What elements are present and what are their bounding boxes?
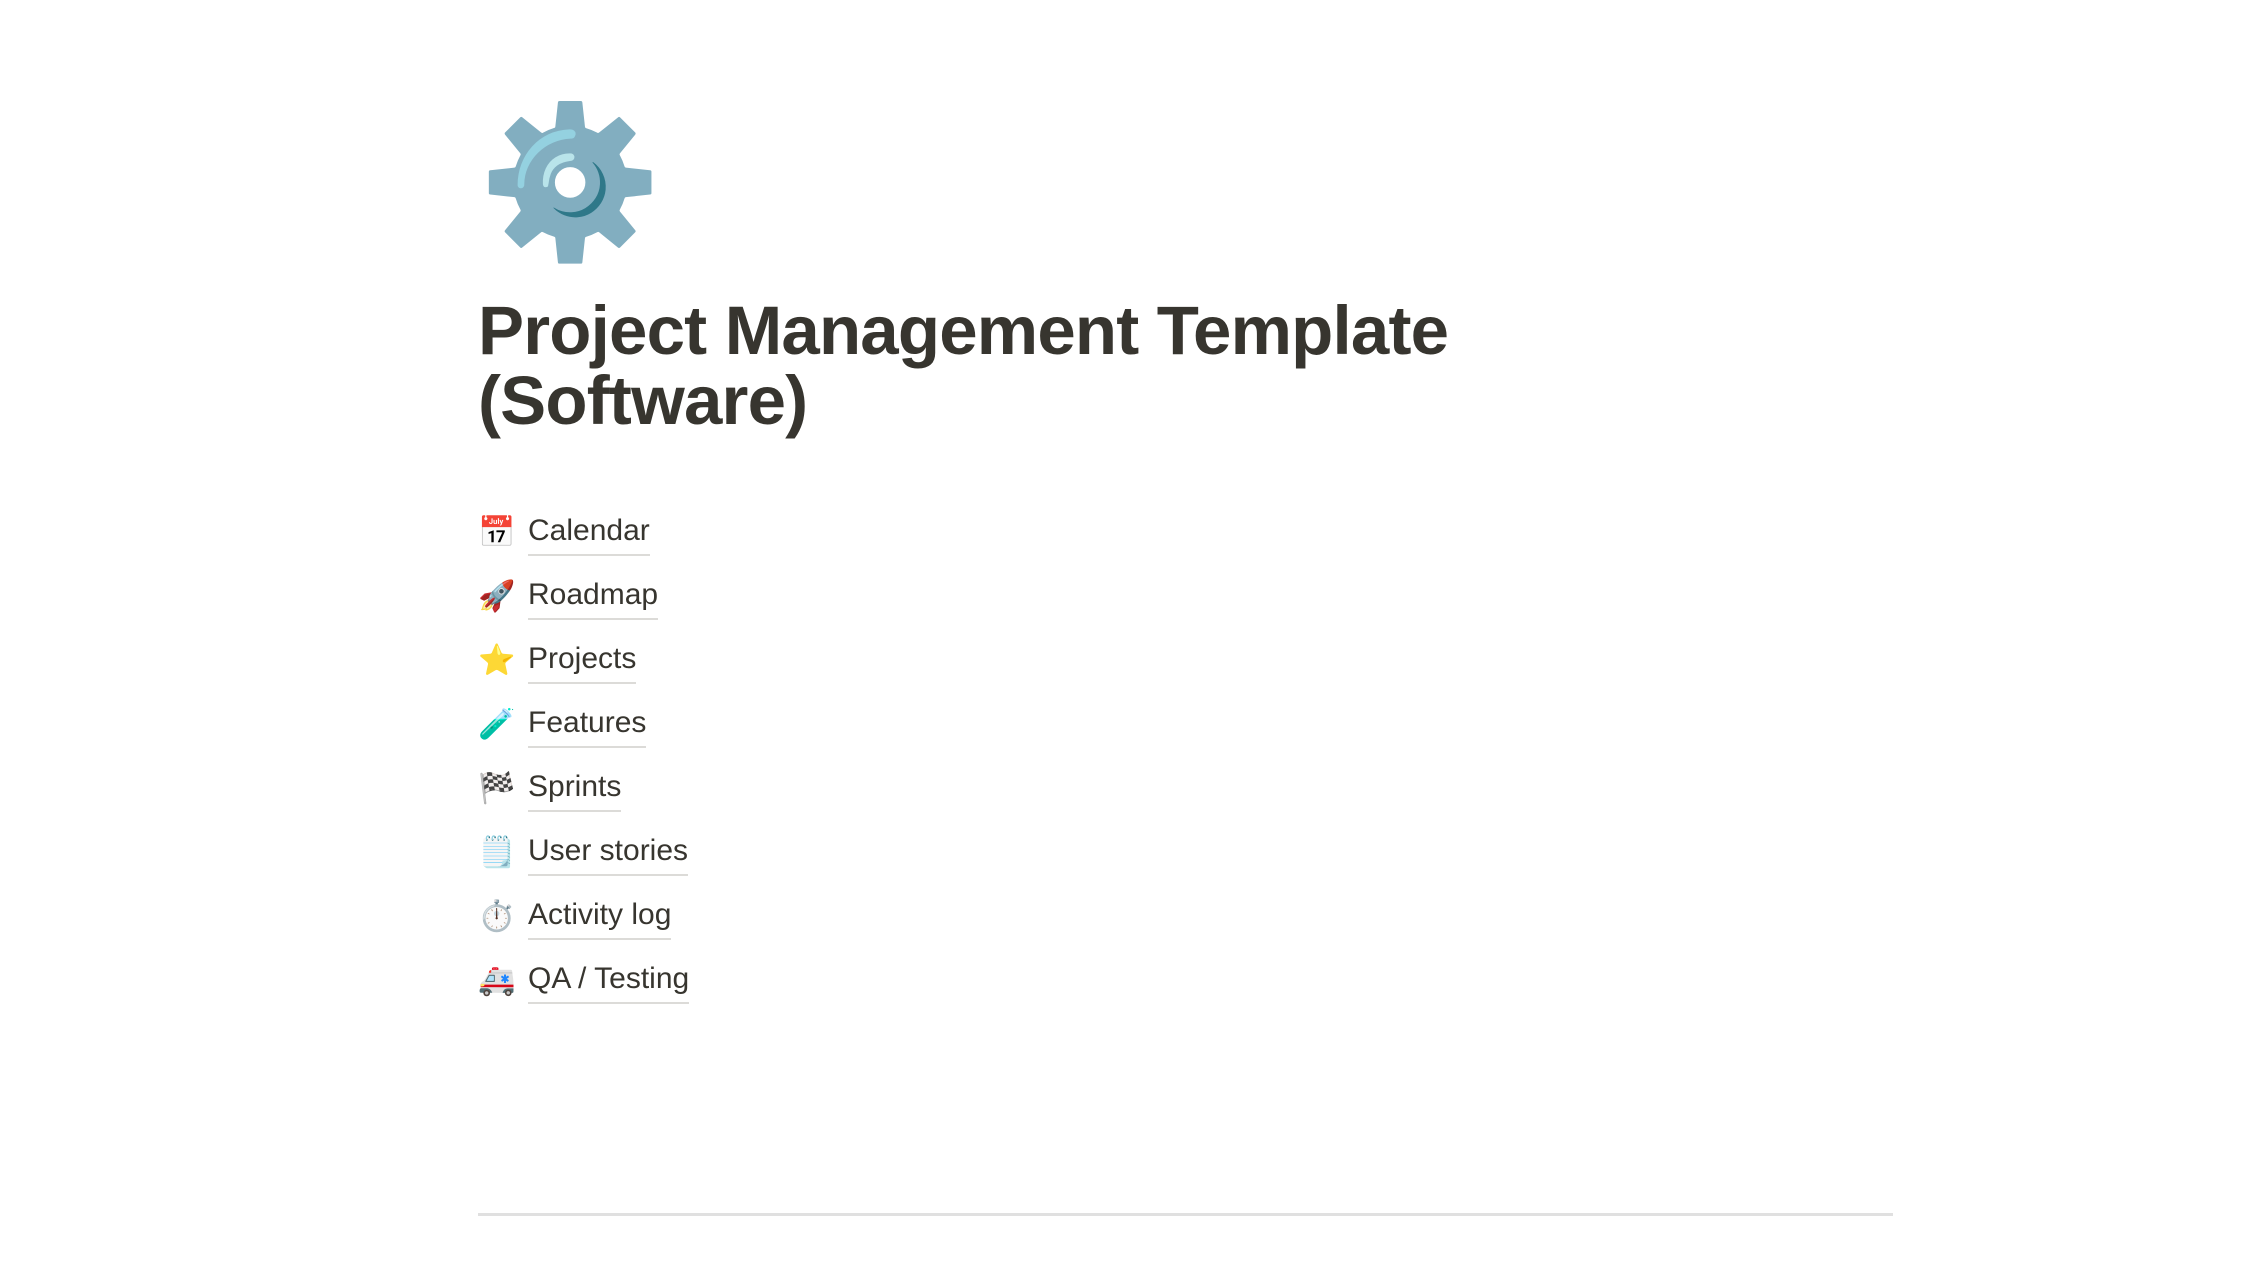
list-item-features[interactable]: 🧪 Features bbox=[478, 703, 1893, 747]
page-link-label[interactable]: Sprints bbox=[528, 765, 621, 812]
list-item-roadmap[interactable]: 🚀 Roadmap bbox=[478, 575, 1893, 619]
ambulance-icon: 🚑 bbox=[478, 959, 528, 1003]
spiral-notepad-icon: 🗒️ bbox=[478, 831, 528, 875]
list-item-activity-log[interactable]: ⏱️ Activity log bbox=[478, 895, 1893, 939]
content-column: ⚙️ Project Management Template (Software… bbox=[478, 0, 1893, 1003]
gear-icon[interactable]: ⚙️ bbox=[478, 98, 646, 266]
test-tube-icon: 🧪 bbox=[478, 703, 528, 747]
page-link-label[interactable]: Activity log bbox=[528, 893, 671, 940]
page-title[interactable]: Project Management Template (Software) bbox=[478, 296, 1618, 437]
page-link-label[interactable]: Projects bbox=[528, 637, 636, 684]
star-icon: ⭐ bbox=[478, 639, 528, 683]
list-item-user-stories[interactable]: 🗒️ User stories bbox=[478, 831, 1893, 875]
page-link-list: 📅 Calendar 🚀 Roadmap ⭐ Projects 🧪 Featur… bbox=[478, 511, 1893, 1003]
stopwatch-icon: ⏱️ bbox=[478, 895, 528, 939]
list-item-projects[interactable]: ⭐ Projects bbox=[478, 639, 1893, 683]
page-link-label[interactable]: Calendar bbox=[528, 509, 650, 556]
list-item-calendar[interactable]: 📅 Calendar bbox=[478, 511, 1893, 555]
calendar-icon: 📅 bbox=[478, 511, 528, 555]
page-link-label[interactable]: Features bbox=[528, 701, 646, 748]
page-link-label[interactable]: User stories bbox=[528, 829, 688, 876]
rocket-icon: 🚀 bbox=[478, 575, 528, 619]
horizontal-divider bbox=[478, 1213, 1893, 1216]
page-link-label[interactable]: QA / Testing bbox=[528, 957, 689, 1004]
list-item-qa-testing[interactable]: 🚑 QA / Testing bbox=[478, 959, 1893, 1003]
document-page: ⚙️ Project Management Template (Software… bbox=[0, 0, 2268, 1280]
list-item-sprints[interactable]: 🏁 Sprints bbox=[478, 767, 1893, 811]
chequered-flag-icon: 🏁 bbox=[478, 767, 528, 811]
page-link-label[interactable]: Roadmap bbox=[528, 573, 658, 620]
